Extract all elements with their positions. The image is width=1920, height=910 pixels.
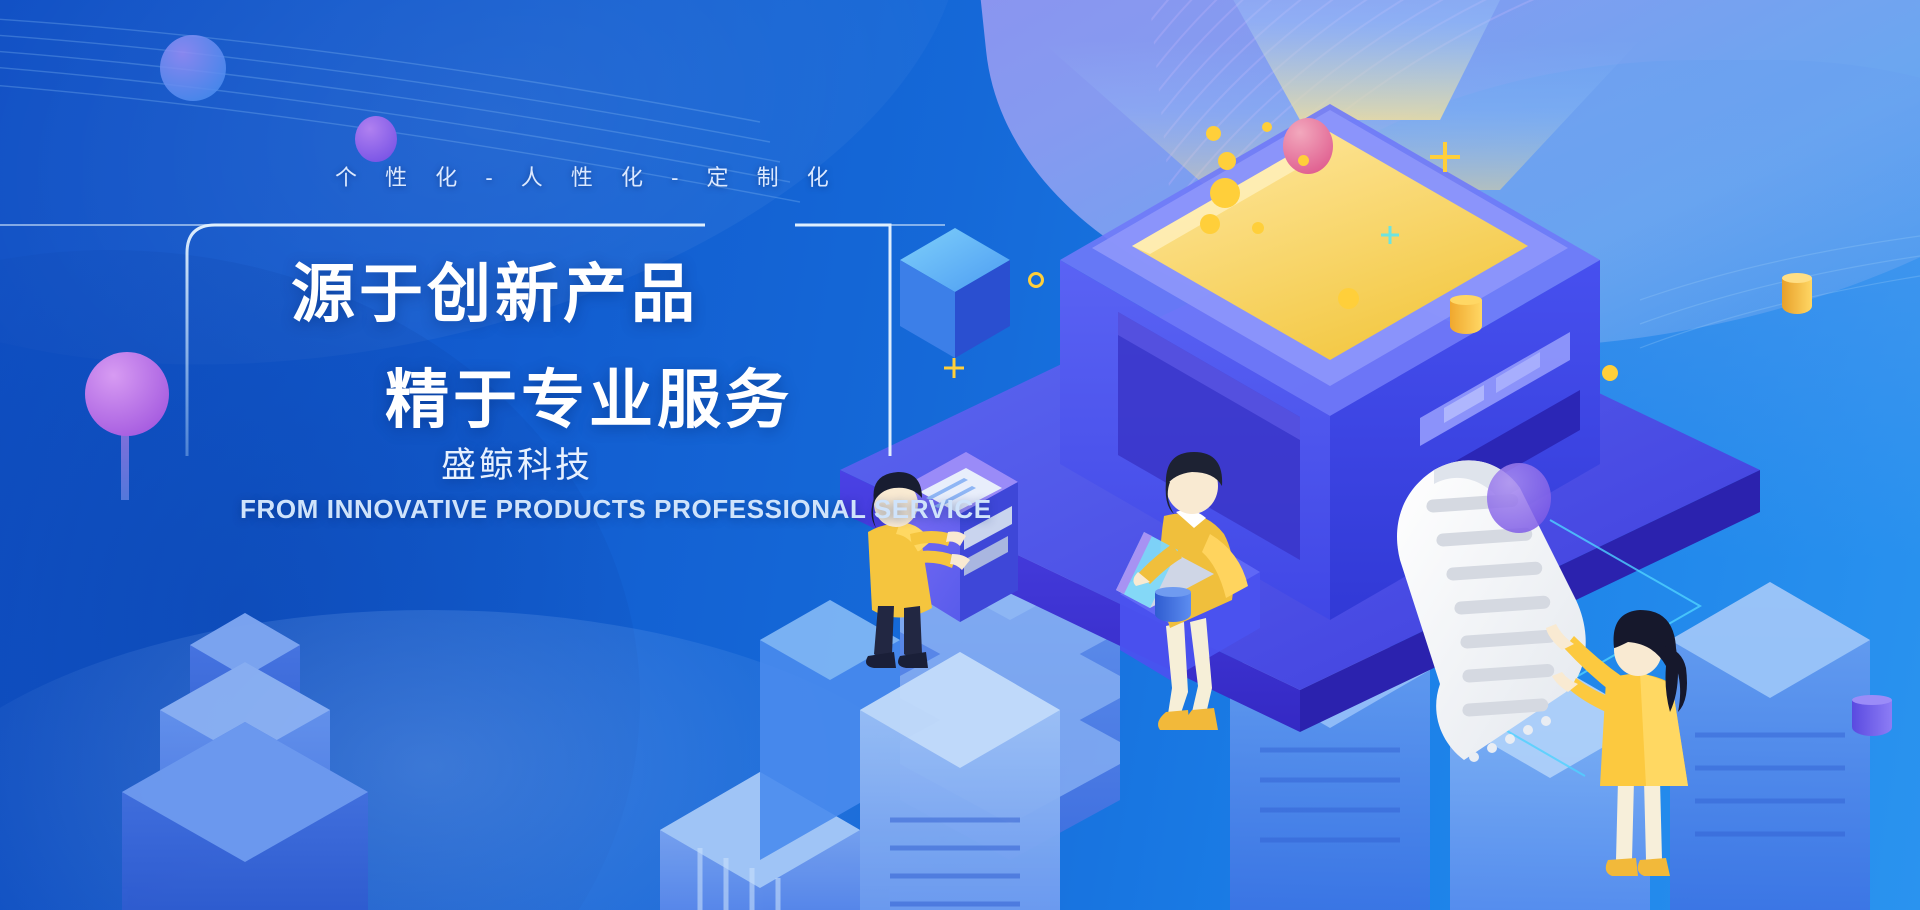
gold-tray	[1092, 110, 1568, 386]
window-lines-vertical	[700, 848, 778, 910]
banner-stage: 个 性 化 - 人 性 化 - 定 制 化	[0, 0, 1920, 910]
text-block: 个 性 化 - 人 性 化 - 定 制 化	[0, 0, 1010, 700]
city-skyline-right	[1150, 520, 1920, 910]
cylinder-violet	[1852, 700, 1892, 736]
printer-slot	[1420, 332, 1570, 446]
light-beam	[1200, 0, 1530, 120]
dot-yellow-8	[1338, 288, 1359, 309]
plus-yellow-large	[1430, 142, 1460, 172]
window-lines	[890, 820, 1020, 904]
woman-receiving-printout	[1546, 610, 1688, 876]
wave-blue-right	[1180, 60, 1920, 700]
woman-with-laptop	[1116, 452, 1260, 730]
printer-machine	[1060, 104, 1600, 620]
guide-lines	[1445, 520, 1700, 776]
company-name: 盛鲸科技	[441, 437, 593, 488]
cylinder-yellow-right	[1782, 278, 1812, 314]
cylinder-yellow-tall	[1450, 300, 1482, 334]
balloon-violet-right	[1487, 463, 1551, 533]
dot-yellow-6	[1200, 214, 1220, 234]
arc-lines-decor	[1113, 0, 1920, 410]
headline-line-1: 源于创新产品	[291, 243, 699, 335]
wave-violet-top-right	[944, 0, 1920, 403]
paper-text-lines	[1426, 494, 1557, 717]
dot-yellow-4	[1210, 178, 1240, 208]
cylinder-blue	[1155, 592, 1191, 622]
headline-line-2: 精于专业服务	[385, 349, 793, 441]
dot-yellow-1	[1206, 126, 1221, 141]
dot-yellow-2	[1218, 152, 1236, 170]
printout-paper	[1397, 460, 1586, 762]
plus-cyan	[1381, 226, 1399, 244]
arrow-marker	[1340, 430, 1500, 610]
balloon-pink	[1283, 118, 1333, 174]
dot-yellow-3	[1262, 122, 1272, 132]
tagline: 个 性 化 - 人 性 化 - 定 制 化	[335, 160, 735, 192]
ring-yellow	[1028, 272, 1044, 288]
printer-output-opening	[1440, 390, 1580, 510]
dot-yellow-7	[1252, 222, 1264, 234]
dot-yellow-9	[1602, 365, 1618, 381]
english-subtitle: FROM INNOVATIVE PRODUCTS PROFESSIONAL SE…	[240, 494, 992, 525]
dot-yellow-5	[1298, 155, 1309, 166]
